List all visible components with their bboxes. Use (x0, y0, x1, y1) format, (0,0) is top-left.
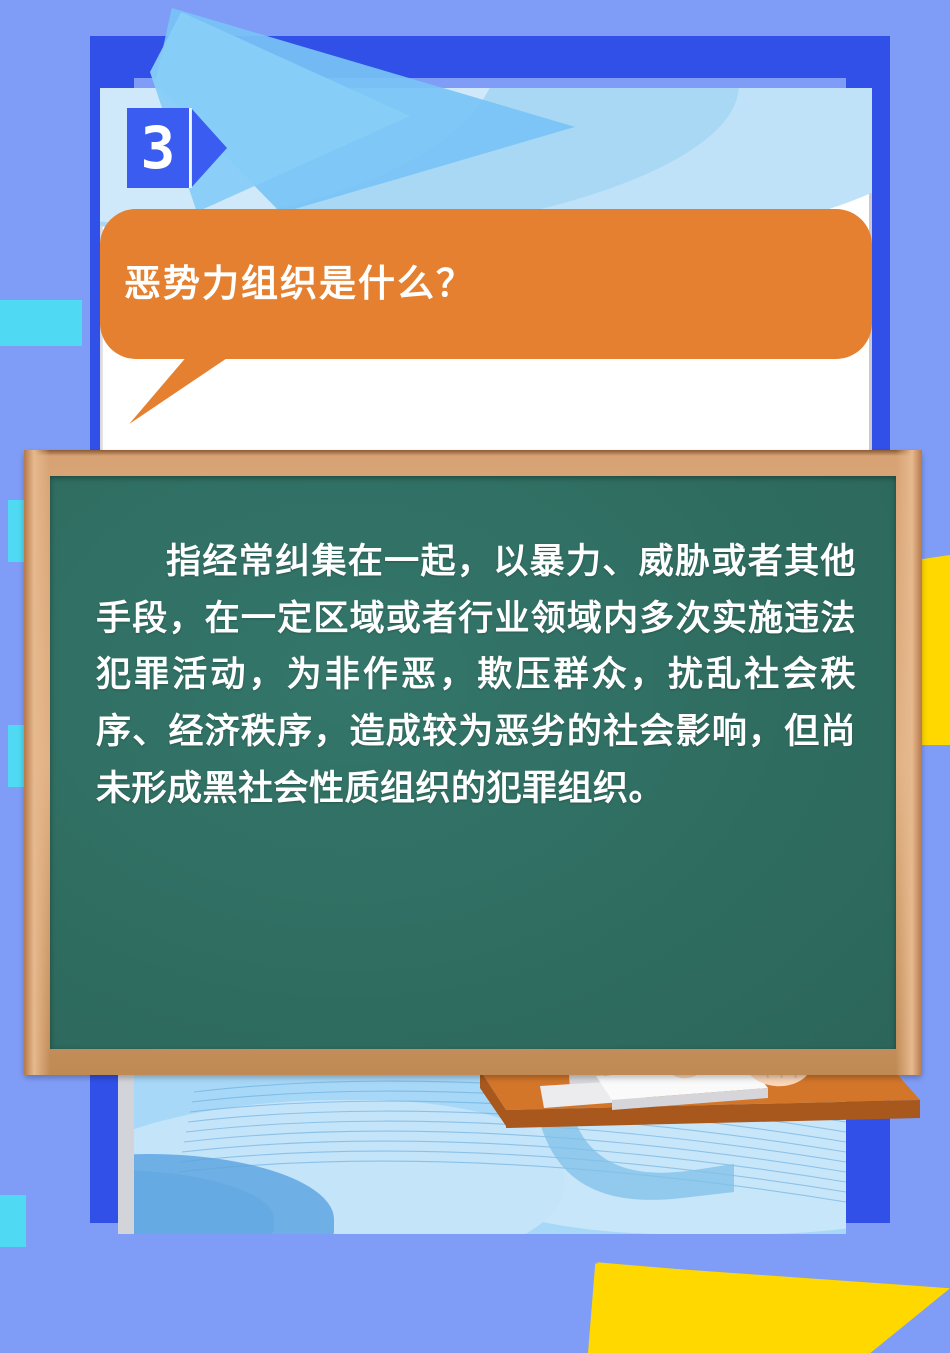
step-number-badge: 3 (127, 108, 189, 188)
chalkboard: 指经常纠集在一起，以暴力、威胁或者其他手段，在一定区域或者行业领域内多次实施违法… (24, 450, 922, 1075)
badge-notch (189, 108, 192, 188)
yellow-accent-triangle (588, 1245, 888, 1353)
cyan-accent-bar (0, 1195, 26, 1247)
chalkboard-surface: 指经常纠集在一起，以暴力、威胁或者其他手段，在一定区域或者行业领域内多次实施违法… (50, 476, 896, 1049)
poster-root: 3 恶势力组织是什么？ (0, 0, 950, 1353)
step-number-text: 3 (141, 119, 176, 177)
question-text: 恶势力组织是什么？ (124, 253, 475, 307)
answer-text: 指经常纠集在一起，以暴力、威胁或者其他手段，在一定区域或者行业领域内多次实施违法… (96, 534, 856, 817)
yellow-accent-triangle (588, 1245, 950, 1353)
cyan-accent-bar (0, 300, 82, 346)
arrow-right-icon (191, 108, 227, 188)
